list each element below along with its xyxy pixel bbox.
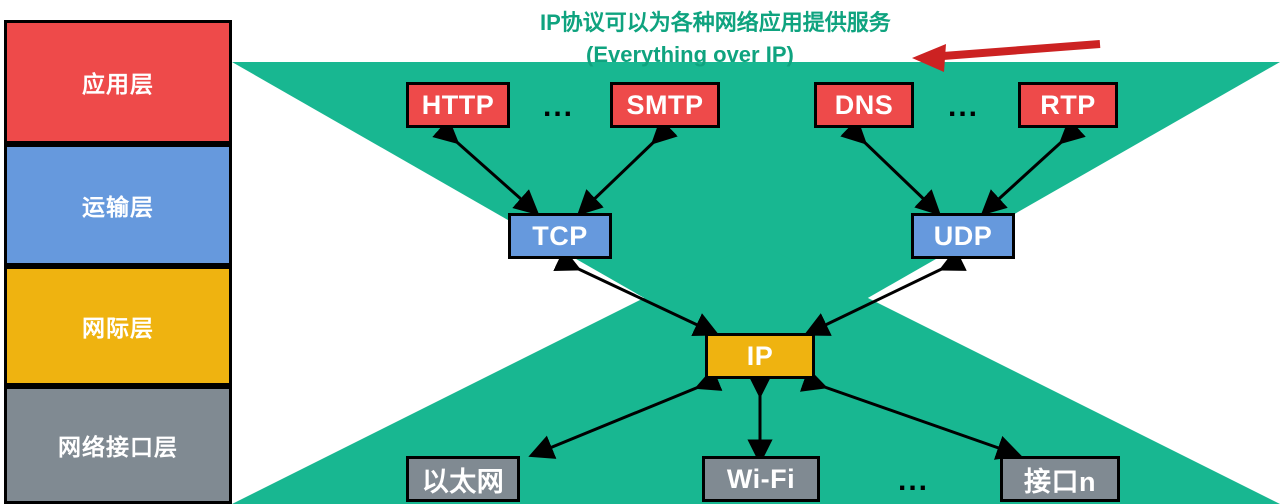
ellipsis-link: ... [898,464,929,498]
node-udp[interactable]: UDP [911,213,1015,259]
hourglass-background [232,62,1280,504]
layer-transport[interactable]: 运输层 [4,144,232,266]
layer-internet[interactable]: 网际层 [4,266,232,386]
ellipsis-app-left: ... [543,90,574,124]
diagram-canvas: IP协议可以为各种网络应用提供服务 (Everything over IP) 应… [0,0,1280,504]
node-http[interactable]: HTTP [406,82,510,128]
node-rtp[interactable]: RTP [1018,82,1118,128]
node-wifi-label: Wi-Fi [727,464,795,495]
node-tcp[interactable]: TCP [508,213,612,259]
node-ethernet-label: 以太网 [422,460,505,499]
diagram-title-line1: IP协议可以为各种网络应用提供服务 [540,8,891,38]
layer-transport-label: 运输层 [82,188,154,222]
node-http-label: HTTP [422,90,495,121]
node-interface-n[interactable]: 接口n [1000,456,1120,502]
node-interface-n-label: 接口n [1024,460,1096,499]
node-udp-label: UDP [934,221,993,252]
node-smtp-label: SMTP [626,90,703,121]
node-ethernet[interactable]: 以太网 [406,456,520,502]
layer-application-label: 应用层 [82,65,154,99]
node-ip[interactable]: IP [705,333,815,379]
layer-network-interface[interactable]: 网络接口层 [4,386,232,504]
node-rtp-label: RTP [1040,90,1096,121]
node-smtp[interactable]: SMTP [610,82,720,128]
node-dns[interactable]: DNS [814,82,914,128]
layer-internet-label: 网际层 [82,309,154,343]
node-wifi[interactable]: Wi-Fi [702,456,820,502]
node-tcp-label: TCP [532,221,588,252]
node-ip-label: IP [747,341,774,372]
layer-stack: 应用层 运输层 网际层 网络接口层 [4,20,232,504]
layer-network-interface-label: 网络接口层 [58,428,178,462]
node-dns-label: DNS [835,90,894,121]
ellipsis-app-right: ... [948,90,979,124]
diagram-title-line2: (Everything over IP) [586,40,794,70]
layer-application[interactable]: 应用层 [4,20,232,144]
